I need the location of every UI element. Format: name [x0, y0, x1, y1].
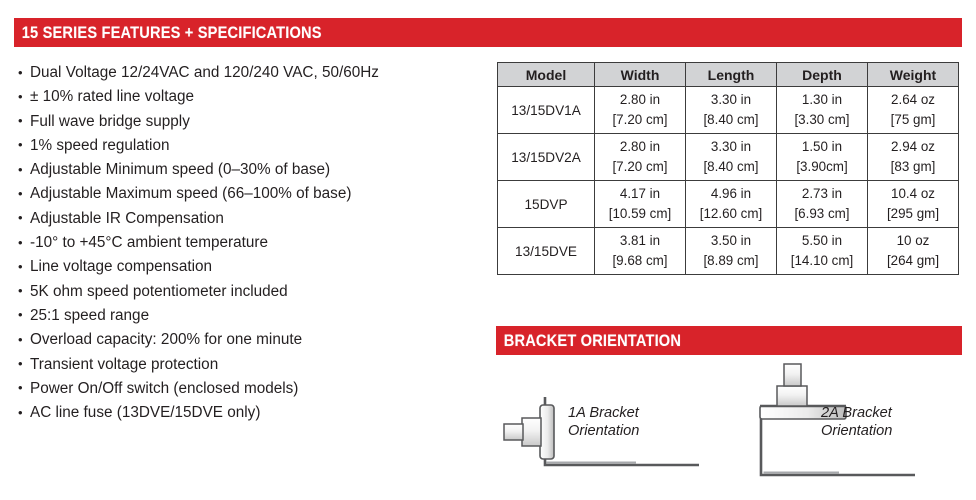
value-centimeters: [7.20 cm] — [595, 157, 685, 177]
column-header-depth: Depth — [777, 63, 868, 87]
cell-depth: 2.73 in [6.93 cm] — [777, 181, 868, 228]
table-row: 13/15DVE 3.81 in [9.68 cm] 3.50 in [8.89… — [498, 228, 959, 275]
list-item: Overload capacity: 200% for one minute — [18, 328, 488, 352]
cell-width: 3.81 in [9.68 cm] — [595, 228, 686, 275]
caption-line-2: Orientation — [821, 422, 892, 440]
cell-length: 3.50 in [8.89 cm] — [686, 228, 777, 275]
cell-weight: 2.94 oz [83 gm] — [868, 134, 959, 181]
bracket-orientation-diagrams: 1A Bracket Orientation 2A Bracket Orient… — [496, 362, 962, 490]
value-centimeters: [8.89 cm] — [686, 251, 776, 271]
value-centimeters: [9.68 cm] — [595, 251, 685, 271]
value-inches: 3.50 in — [686, 231, 776, 251]
value-ounces: 2.64 oz — [868, 90, 958, 110]
cell-weight: 10 oz [264 gm] — [868, 228, 959, 275]
cell-width: 2.80 in [7.20 cm] — [595, 87, 686, 134]
value-inches: 2.80 in — [595, 90, 685, 110]
list-item: Adjustable Minimum speed (0–30% of base) — [18, 158, 488, 182]
cell-length: 3.30 in [8.40 cm] — [686, 134, 777, 181]
cell-model: 13/15DVE — [498, 228, 595, 275]
cell-depth: 1.30 in [3.30 cm] — [777, 87, 868, 134]
value-inches: 4.17 in — [595, 184, 685, 204]
features-section-title: 15 SERIES FEATURES + SPECIFICATIONS — [14, 23, 322, 43]
caption-line-1: 2A Bracket — [821, 404, 892, 422]
value-centimeters: [10.59 cm] — [595, 204, 685, 224]
value-inches: 2.73 in — [777, 184, 867, 204]
bracket-2a-caption: 2A Bracket Orientation — [821, 404, 892, 440]
value-inches: 1.50 in — [777, 137, 867, 157]
value-centimeters: [7.20 cm] — [595, 110, 685, 130]
table-row: 15DVP 4.17 in [10.59 cm] 4.96 in [12.60 … — [498, 181, 959, 228]
value-centimeters: [8.40 cm] — [686, 157, 776, 177]
cell-weight: 10.4 oz [295 gm] — [868, 181, 959, 228]
caption-line-2: Orientation — [568, 422, 639, 440]
value-centimeters: [6.93 cm] — [777, 204, 867, 224]
features-list: Dual Voltage 12/24VAC and 120/240 VAC, 5… — [18, 61, 488, 425]
value-inches: 4.96 in — [686, 184, 776, 204]
features-section-header: 15 SERIES FEATURES + SPECIFICATIONS — [14, 18, 962, 47]
cell-width: 2.80 in [7.20 cm] — [595, 134, 686, 181]
cell-length: 3.30 in [8.40 cm] — [686, 87, 777, 134]
value-inches: 3.81 in — [595, 231, 685, 251]
value-centimeters: [3.30 cm] — [777, 110, 867, 130]
table-header-row: Model Width Length Depth Weight — [498, 63, 959, 87]
bracket-section-header: BRACKET ORIENTATION — [496, 326, 962, 355]
cell-model: 13/15DV1A — [498, 87, 595, 134]
cell-model: 15DVP — [498, 181, 595, 228]
cell-depth: 1.50 in [3.90cm] — [777, 134, 868, 181]
list-item: Transient voltage protection — [18, 353, 488, 377]
caption-line-1: 1A Bracket — [568, 404, 639, 422]
list-item: Power On/Off switch (enclosed models) — [18, 377, 488, 401]
value-ounces: 10 oz — [868, 231, 958, 251]
cell-model: 13/15DV2A — [498, 134, 595, 181]
list-item: 1% speed regulation — [18, 134, 488, 158]
list-item: Full wave bridge supply — [18, 110, 488, 134]
value-centimeters: [8.40 cm] — [686, 110, 776, 130]
list-item: 25:1 speed range — [18, 304, 488, 328]
bracket-1a-caption: 1A Bracket Orientation — [568, 404, 639, 440]
value-inches: 1.30 in — [777, 90, 867, 110]
list-item: Line voltage compensation — [18, 255, 488, 279]
value-centimeters: [3.90cm] — [777, 157, 867, 177]
value-grams: [83 gm] — [868, 157, 958, 177]
cell-weight: 2.64 oz [75 gm] — [868, 87, 959, 134]
specifications-table: Model Width Length Depth Weight 13/15DV1… — [497, 62, 959, 275]
table-row: 13/15DV2A 2.80 in [7.20 cm] 3.30 in [8.4… — [498, 134, 959, 181]
list-item: ± 10% rated line voltage — [18, 85, 488, 109]
list-item: -10° to +45°C ambient temperature — [18, 231, 488, 255]
list-item: 5K ohm speed potentiometer included — [18, 280, 488, 304]
value-grams: [264 gm] — [868, 251, 958, 271]
list-item: Dual Voltage 12/24VAC and 120/240 VAC, 5… — [18, 61, 488, 85]
value-inches: 3.30 in — [686, 90, 776, 110]
cell-width: 4.17 in [10.59 cm] — [595, 181, 686, 228]
list-item: Adjustable Maximum speed (66–100% of bas… — [18, 182, 488, 206]
column-header-width: Width — [595, 63, 686, 87]
value-centimeters: [12.60 cm] — [686, 204, 776, 224]
column-header-weight: Weight — [868, 63, 959, 87]
value-grams: [295 gm] — [868, 204, 958, 224]
value-inches: 3.30 in — [686, 137, 776, 157]
list-item: Adjustable IR Compensation — [18, 207, 488, 231]
table-row: 13/15DV1A 2.80 in [7.20 cm] 3.30 in [8.4… — [498, 87, 959, 134]
value-inches: 5.50 in — [777, 231, 867, 251]
value-inches: 2.80 in — [595, 137, 685, 157]
list-item: AC line fuse (13DVE/15DVE only) — [18, 401, 488, 425]
value-ounces: 10.4 oz — [868, 184, 958, 204]
value-ounces: 2.94 oz — [868, 137, 958, 157]
column-header-length: Length — [686, 63, 777, 87]
cell-depth: 5.50 in [14.10 cm] — [777, 228, 868, 275]
column-header-model: Model — [498, 63, 595, 87]
value-grams: [75 gm] — [868, 110, 958, 130]
bracket-2a-figure: 2A Bracket Orientation — [729, 362, 962, 490]
bracket-section-title: BRACKET ORIENTATION — [496, 331, 681, 351]
cell-length: 4.96 in [12.60 cm] — [686, 181, 777, 228]
bracket-1a-figure: 1A Bracket Orientation — [496, 362, 729, 490]
value-centimeters: [14.10 cm] — [777, 251, 867, 271]
